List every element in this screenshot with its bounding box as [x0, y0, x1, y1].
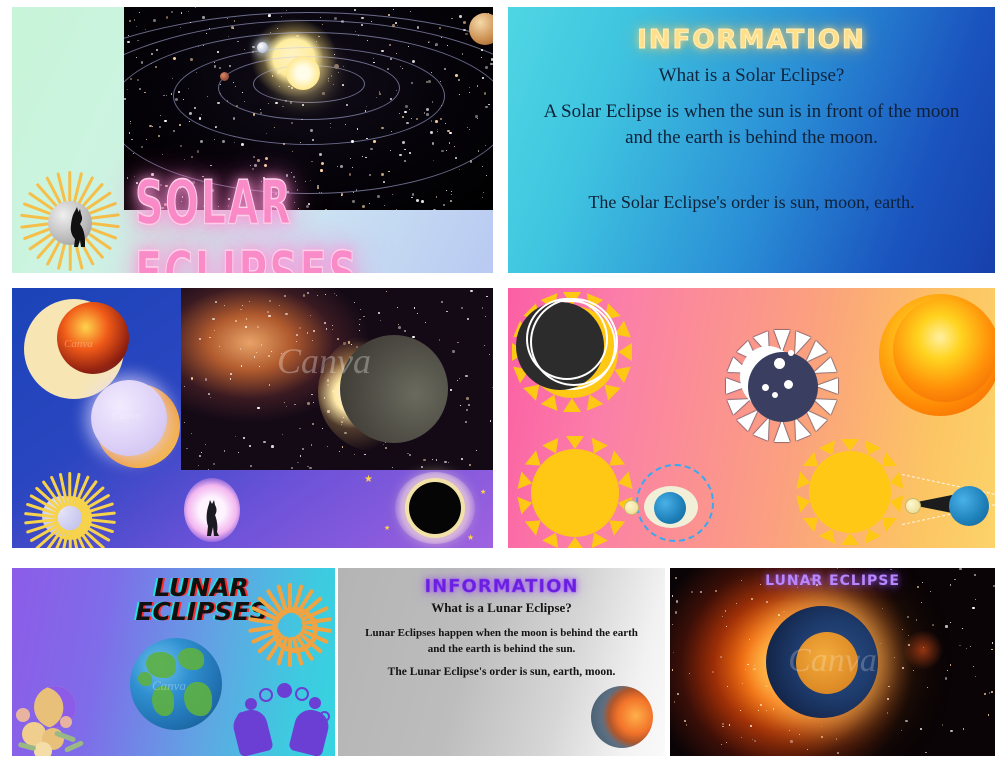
- star-sparkle-icon: ★: [384, 524, 390, 532]
- moon-phase-icon: [309, 697, 321, 709]
- sun-ray-point-icon: [774, 420, 790, 442]
- solar-question-text: What is a Solar Eclipse?: [508, 65, 995, 87]
- moon-phase-icon: [295, 687, 309, 701]
- slide-solar-information[interactable]: INFORMATION What is a Solar Eclipse? A S…: [508, 7, 995, 273]
- slide-lunar-eclipse-photo[interactable]: Canva LUNAR ECLIPSE: [670, 568, 995, 756]
- sun-moon-face-icon: [726, 330, 838, 442]
- moon-crater-icon: [788, 350, 794, 356]
- hands-with-moon-phases-illustration: [233, 678, 329, 754]
- information-heading: INFORMATION: [338, 576, 665, 597]
- moon-phase-icon: [319, 711, 330, 722]
- solar-order-text: The Solar Eclipse's order is sun, moon, …: [534, 192, 969, 213]
- earth-icon: [949, 486, 989, 526]
- slide-lunar-information[interactable]: INFORMATION What is a Lunar Eclipse? Lun…: [338, 568, 665, 756]
- page-title: SOLAR ECLIPSES: [124, 207, 493, 269]
- moon-body-icon: [340, 335, 448, 443]
- moon-crater-icon: [784, 380, 793, 389]
- sun-diagram-right-icon: [798, 440, 902, 544]
- crescent-moon-flowers-illustration: [16, 682, 108, 754]
- canva-watermark: Canva: [670, 642, 995, 680]
- full-moon-icon: [91, 380, 167, 456]
- moon-crater-icon: [762, 384, 769, 391]
- slide-title-text: SOLAR ECLIPSES: [135, 167, 482, 273]
- planet-venus-icon: [257, 42, 268, 53]
- lunar-order-text: The Lunar Eclipse's order is sun, earth,…: [356, 666, 647, 678]
- wolf-silhouette-icon: [66, 207, 88, 247]
- moon-small-icon: [624, 500, 639, 515]
- moon-phase-icon: [277, 683, 292, 698]
- continent-shape: [138, 672, 152, 686]
- eclipse-core-icon: [409, 482, 461, 534]
- flower-icon: [60, 716, 72, 728]
- flower-icon: [16, 708, 30, 722]
- slide-solar-collage[interactable]: Canva Canva Canva ★ ★ ★ ★: [12, 288, 493, 548]
- moon-phase-icon: [259, 688, 273, 702]
- sun-with-rays-illustration: [26, 474, 114, 548]
- slide-deck: SOLAR ECLIPSES INFORMATION What is a Sol…: [0, 0, 1008, 763]
- sun-icon: [286, 56, 320, 90]
- fiery-sun-icon: [57, 302, 129, 374]
- sun-diagram-left-icon: [520, 438, 630, 548]
- sun-core-icon: [893, 298, 995, 402]
- total-eclipse-ring-illustration: [395, 472, 475, 544]
- lunar-definition-text: Lunar Eclipses happen when the moon is b…: [360, 626, 643, 658]
- flower-icon: [34, 742, 52, 756]
- sun-ray-point-icon: [816, 378, 838, 394]
- sun-disc-icon: [531, 449, 619, 537]
- continent-shape: [178, 648, 204, 670]
- slide-solar-eclipses-title[interactable]: SOLAR ECLIPSES: [12, 7, 493, 273]
- star-sparkle-icon: ★: [480, 488, 486, 496]
- moon-small-icon: [905, 498, 921, 514]
- information-heading: INFORMATION: [508, 25, 995, 55]
- earth-globe-illustration: [130, 638, 222, 730]
- lunar-question-text: What is a Lunar Eclipse?: [338, 600, 665, 616]
- continent-shape: [152, 686, 174, 716]
- cat-silhouette-moon-illustration: [184, 478, 240, 542]
- moon-crater-icon: [772, 392, 778, 398]
- planet-mars-icon: [220, 72, 229, 81]
- sun-outline-ring-icon: [526, 298, 608, 380]
- moon-crater-icon: [774, 358, 785, 369]
- orange-sun-icon: [879, 294, 995, 416]
- star-sparkle-icon: ★: [364, 474, 373, 485]
- slide-lunar-eclipses-title[interactable]: LUNAR ECLIPSES Canva: [12, 568, 335, 756]
- watercolor-planet-illustration: [591, 686, 653, 748]
- page-title: LUNAR ECLIPSE: [670, 573, 995, 589]
- earth-icon: [654, 492, 686, 524]
- sun-disc-icon: [809, 451, 891, 533]
- moon-phase-icon: [245, 698, 257, 710]
- star-sparkle-icon: ★: [467, 533, 474, 542]
- cat-silhouette-icon: [204, 500, 220, 536]
- moon-phase-icon: [237, 712, 248, 723]
- slide-solar-diagrams[interactable]: [508, 288, 995, 548]
- crescent-eclipse-space-photo: Canva: [181, 288, 493, 470]
- howling-wolf-moon-sun-illustration: [24, 175, 116, 267]
- orange-sun-outline-illustration: [251, 586, 329, 664]
- solar-definition-text: A Solar Eclipse is when the sun is in fr…: [534, 99, 969, 150]
- continent-shape: [184, 682, 212, 716]
